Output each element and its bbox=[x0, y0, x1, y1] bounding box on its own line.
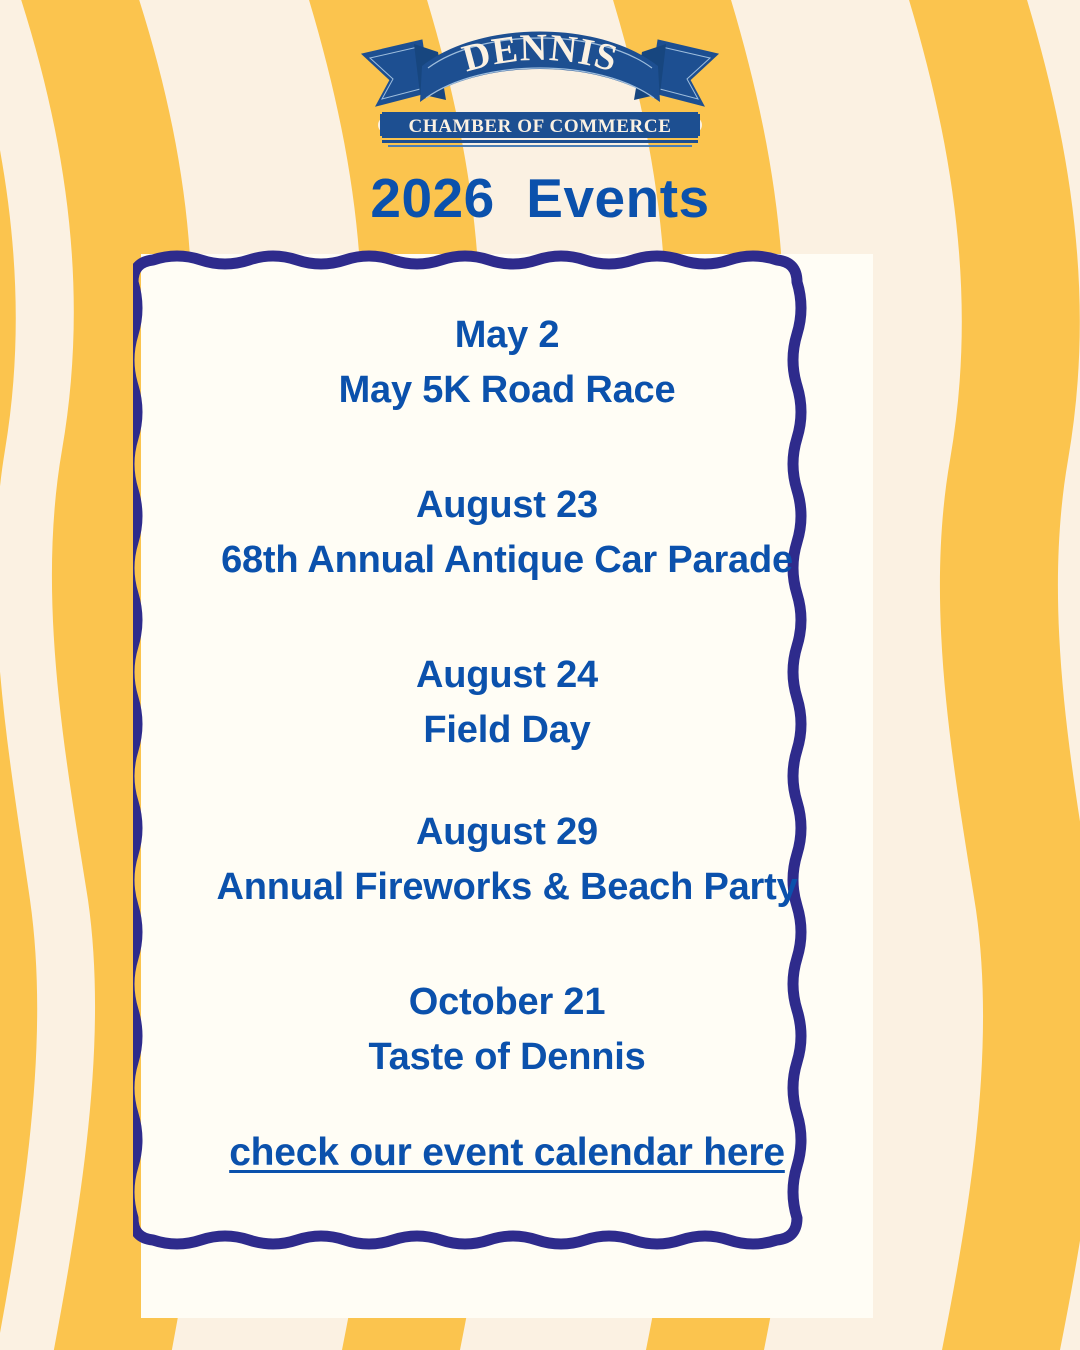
event-name: Taste of Dennis bbox=[151, 1030, 863, 1085]
event-item: August 23 68th Annual Antique Car Parade bbox=[151, 478, 863, 588]
logo-chamber-text: CHAMBER OF COMMERCE bbox=[409, 116, 672, 137]
events-list: May 2 May 5K Road Race August 23 68th An… bbox=[151, 272, 863, 1300]
event-name: Field Day bbox=[151, 703, 863, 758]
spacer bbox=[151, 418, 863, 478]
spacer bbox=[151, 915, 863, 975]
event-calendar-link[interactable]: check our event calendar here bbox=[229, 1131, 785, 1175]
event-date: August 29 bbox=[151, 805, 863, 860]
dennis-chamber-logo-graphic: DENNIS CHAMBER OF COMMERCE bbox=[360, 22, 720, 152]
spacer-top bbox=[151, 272, 863, 308]
event-poster: DENNIS CHAMBER OF COMMERCE 2026 Events bbox=[0, 0, 1080, 1350]
spacer bbox=[151, 1085, 863, 1131]
spacer bbox=[151, 759, 863, 805]
event-name: Annual Fireworks & Beach Party bbox=[151, 860, 863, 915]
event-date: May 2 bbox=[151, 308, 863, 363]
chamber-logo: DENNIS CHAMBER OF COMMERCE bbox=[0, 22, 1080, 162]
event-item: August 29 Annual Fireworks & Beach Party bbox=[151, 805, 863, 915]
page-title: 2026 Events bbox=[0, 168, 1080, 229]
event-date: October 21 bbox=[151, 975, 863, 1030]
logo-dennis-text: DENNIS bbox=[458, 27, 622, 81]
event-date: August 23 bbox=[151, 478, 863, 533]
event-item: August 24 Field Day bbox=[151, 648, 863, 758]
event-item: May 2 May 5K Road Race bbox=[151, 308, 863, 418]
event-name: 68th Annual Antique Car Parade bbox=[151, 533, 863, 588]
spacer bbox=[151, 588, 863, 648]
event-name: May 5K Road Race bbox=[151, 363, 863, 418]
events-card: May 2 May 5K Road Race August 23 68th An… bbox=[133, 246, 881, 1326]
event-item: October 21 Taste of Dennis bbox=[151, 975, 863, 1085]
event-date: August 24 bbox=[151, 648, 863, 703]
